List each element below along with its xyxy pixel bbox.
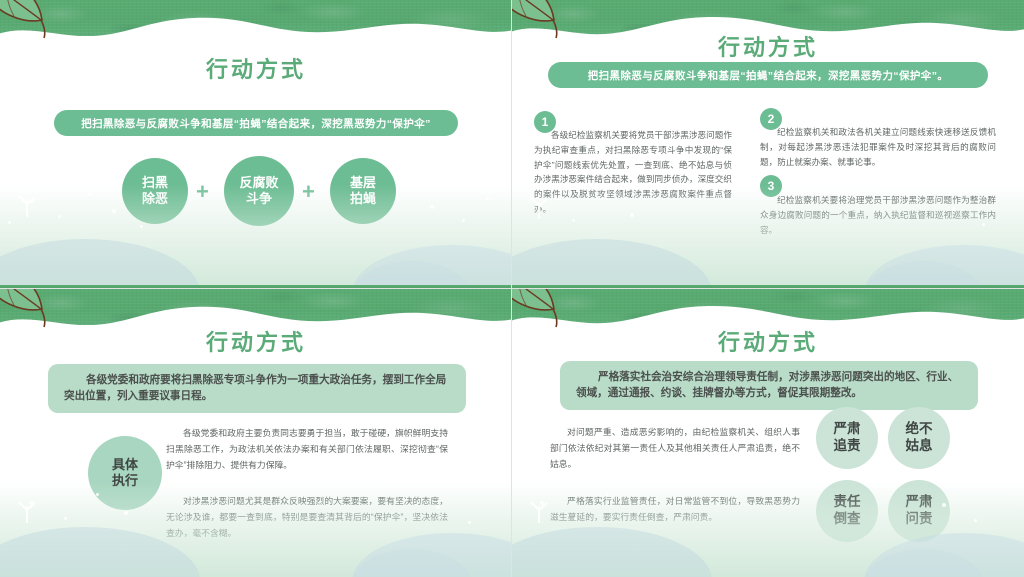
slide-3[interactable]: 行动方式 各级党委和政府要将扫黑除恶专项斗争作为一项重大政治任务，摆到工作全局突… (0, 289, 512, 577)
result-circle-1-text: 严肃追责 (834, 421, 861, 455)
slide-3-banner: 各级党委和政府要将扫黑除恶专项斗争作为一项重大政治任务，摆到工作全局突出位置，列… (48, 364, 466, 413)
slide-4-title: 行动方式 (512, 325, 1024, 357)
bottom-scenery (0, 481, 512, 577)
slide-2[interactable]: 行动方式 把扫黑除恶与反腐败斗争和基层“拍蝇”结合起来，深挖黑恶势力“保护伞”。… (512, 0, 1024, 289)
slide-1-title: 行动方式 (0, 52, 512, 84)
bottom-scenery (512, 481, 1024, 577)
result-circle-2-text: 绝不姑息 (906, 421, 933, 455)
result-circle-1[interactable]: 严肃追责 (816, 407, 878, 469)
slide-2-item-2-text: 纪检监察机关和政法各机关建立问题线索快速移送反馈机制，对每起涉黑涉恶违法犯罪案件… (760, 125, 996, 169)
sprout-icon (528, 195, 550, 219)
slide-3-title: 行动方式 (0, 325, 512, 357)
slide-4[interactable]: 行动方式 严格落实社会治安综合治理领导责任制，对涉黑涉恶问题突出的地区、行业、领… (512, 289, 1024, 577)
leaf-icon (0, 0, 60, 42)
bottom-scenery (0, 185, 512, 289)
torn-paper-wave (0, 14, 512, 48)
slide-1-banner: 把扫黑除恶与反腐败斗争和基层“拍蝇”结合起来，深挖黑恶势力“保护伞” (54, 110, 458, 136)
slide-3-paragraph-1: 各级党委和政府主要负责同志要勇于担当，敢于碰硬，旗帜鲜明支持扫黑除恶工作，为政法… (166, 426, 448, 473)
result-circle-2[interactable]: 绝不姑息 (888, 407, 950, 469)
slide-2-banner: 把扫黑除恶与反腐败斗争和基层“拍蝇”结合起来，深挖黑恶势力“保护伞”。 (548, 62, 988, 88)
slide-4-banner: 严格落实社会治安综合治理领导责任制，对涉黑涉恶问题突出的地区、行业、领域，通过通… (560, 361, 978, 410)
sprout-icon (16, 193, 38, 217)
bottom-scenery (512, 185, 1024, 289)
slide-1[interactable]: 行动方式 把扫黑除恶与反腐败斗争和基层“拍蝇”结合起来，深挖黑恶势力“保护伞” … (0, 0, 512, 289)
slide-4-paragraph-1: 对问题严重、造成恶劣影响的，由纪检监察机关、组织人事部门依法依纪对其第一责任人及… (550, 425, 800, 472)
sprout-icon (16, 499, 38, 523)
sprout-icon (528, 499, 550, 523)
slide-2-title: 行动方式 (512, 30, 1024, 62)
grid-horizontal-separator (0, 288, 1024, 289)
